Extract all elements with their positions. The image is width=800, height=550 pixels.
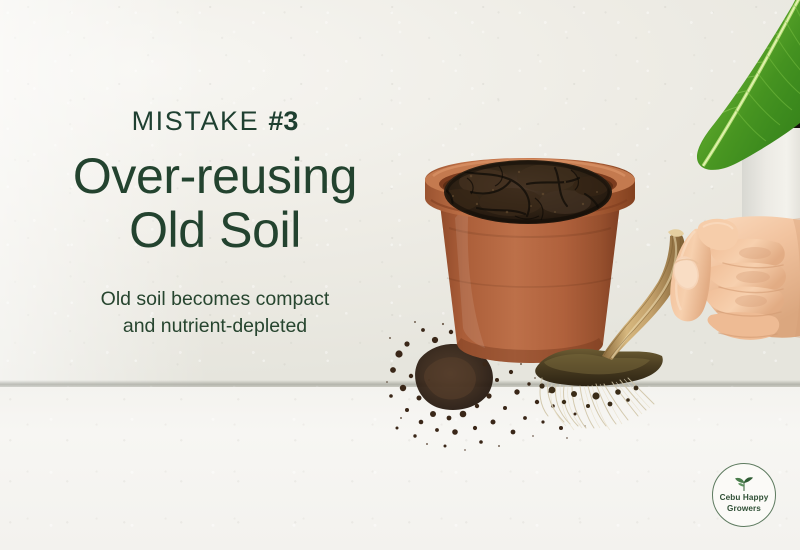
sprout-icon	[733, 476, 755, 491]
promo-graphic-canvas: MISTAKE #3 Over-reusing Old Soil Old soi…	[0, 0, 800, 550]
kicker-line: MISTAKE #3	[0, 108, 430, 135]
kicker-word: MISTAKE	[132, 106, 260, 136]
headline-line-2: Old Soil	[0, 203, 430, 257]
page-title: Over-reusing Old Soil	[0, 149, 430, 257]
hand-holding-dead-plant	[655, 215, 800, 365]
brand-name-line-2: Growers	[720, 504, 769, 514]
brand-logo-badge[interactable]: Cebu Happy Growers	[712, 463, 776, 527]
headline-line-1: Over-reusing	[0, 149, 430, 203]
brand-name-line-1: Cebu Happy	[720, 493, 769, 503]
rubber-plant-leaf	[645, 0, 800, 171]
text-block: MISTAKE #3 Over-reusing Old Soil Old soi…	[0, 108, 430, 339]
subtitle-line-2: and nutrient-depleted	[0, 313, 430, 340]
subtitle: Old soil becomes compact and nutrient-de…	[0, 286, 430, 339]
kicker-number: #3	[268, 106, 298, 136]
brand-logo-text: Cebu Happy Growers	[720, 493, 769, 513]
subtitle-line-1: Old soil becomes compact	[0, 286, 430, 313]
